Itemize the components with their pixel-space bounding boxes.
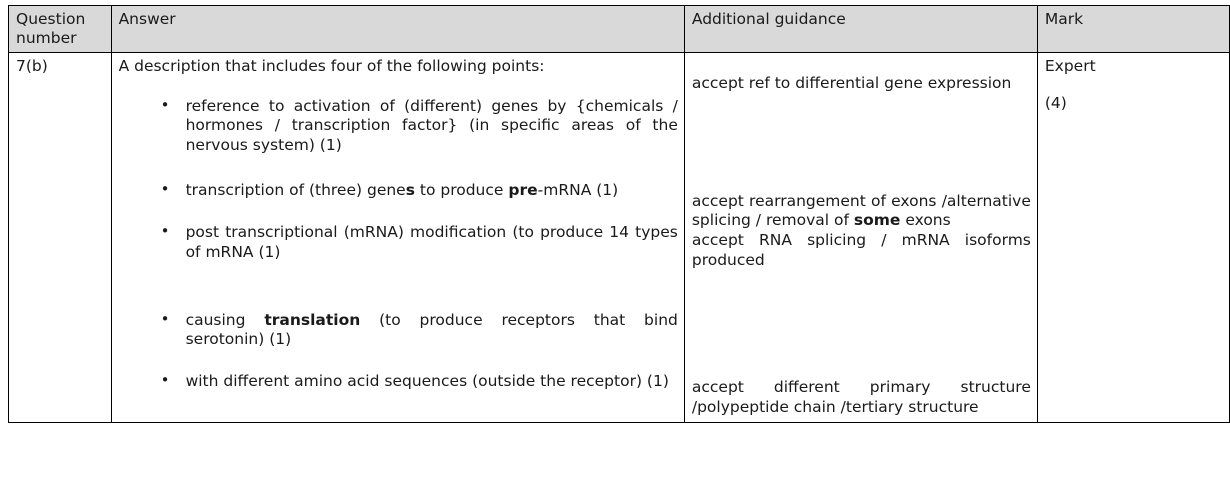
list-item: • causing translation (to produce recept… (119, 311, 678, 351)
column-header-answer: Answer (111, 6, 684, 53)
mark-scheme-page: Question number Answer Additional guidan… (0, 0, 1230, 500)
spacer (119, 350, 678, 372)
column-header-mark: Mark (1037, 6, 1229, 53)
list-item: • transcription of (three) genes to prod… (119, 181, 678, 201)
spacer (119, 156, 678, 181)
answer-points-list: • reference to activation of (different)… (119, 79, 678, 392)
bullet-icon: • (161, 222, 170, 241)
guidance-block: accept rearrangement of exons /alternati… (692, 192, 1031, 232)
additional-guidance-cell: accept ref to differential gene expressi… (684, 52, 1037, 422)
list-item: • post transcriptional (mRNA) modificati… (119, 223, 678, 263)
spacer (1045, 77, 1223, 94)
spacer (119, 79, 678, 97)
spacer (692, 326, 1031, 378)
bullet-icon: • (161, 371, 170, 390)
mark-expert-label: Expert (1045, 57, 1223, 77)
question-number-label: 7(b) (16, 57, 48, 75)
guidance-block: accept ref to differential gene expressi… (692, 74, 1031, 94)
mark-cell: Expert (4) (1037, 52, 1229, 422)
spacer (119, 263, 678, 311)
answer-point-text: transcription of (three) genes to produc… (186, 181, 678, 201)
answer-cell: A description that includes four of the … (111, 52, 684, 422)
question-number-cell: 7(b) (9, 52, 112, 422)
table-header: Question number Answer Additional guidan… (9, 6, 1230, 53)
bullet-icon: • (161, 310, 170, 329)
mark-scheme-table: Question number Answer Additional guidan… (8, 5, 1230, 423)
spacer (119, 201, 678, 223)
table-header-row: Question number Answer Additional guidan… (9, 6, 1230, 53)
bullet-icon: • (161, 180, 170, 199)
spacer (692, 57, 1031, 74)
answer-stem: A description that includes four of the … (119, 57, 678, 77)
guidance-block: accept RNA splicing / mRNA isoforms prod… (692, 231, 1031, 271)
table-row: 7(b) A description that includes four of… (9, 52, 1230, 422)
mark-total: (4) (1045, 94, 1223, 114)
column-header-additional-guidance: Additional guidance (684, 6, 1037, 53)
answer-point-text: with different amino acid sequences (out… (186, 372, 678, 392)
spacer (692, 94, 1031, 192)
column-header-question-number: Question number (9, 6, 112, 53)
spacer (692, 271, 1031, 326)
answer-point-text: causing translation (to produce receptor… (186, 311, 678, 351)
list-item: • reference to activation of (different)… (119, 97, 678, 156)
list-item: • with different amino acid sequences (o… (119, 372, 678, 392)
answer-point-text: post transcriptional (mRNA) modification… (186, 223, 678, 263)
table-body: 7(b) A description that includes four of… (9, 52, 1230, 422)
bullet-icon: • (161, 96, 170, 115)
guidance-block: accept different primary structure /poly… (692, 378, 1031, 418)
answer-point-text: reference to activation of (different) g… (186, 97, 678, 156)
